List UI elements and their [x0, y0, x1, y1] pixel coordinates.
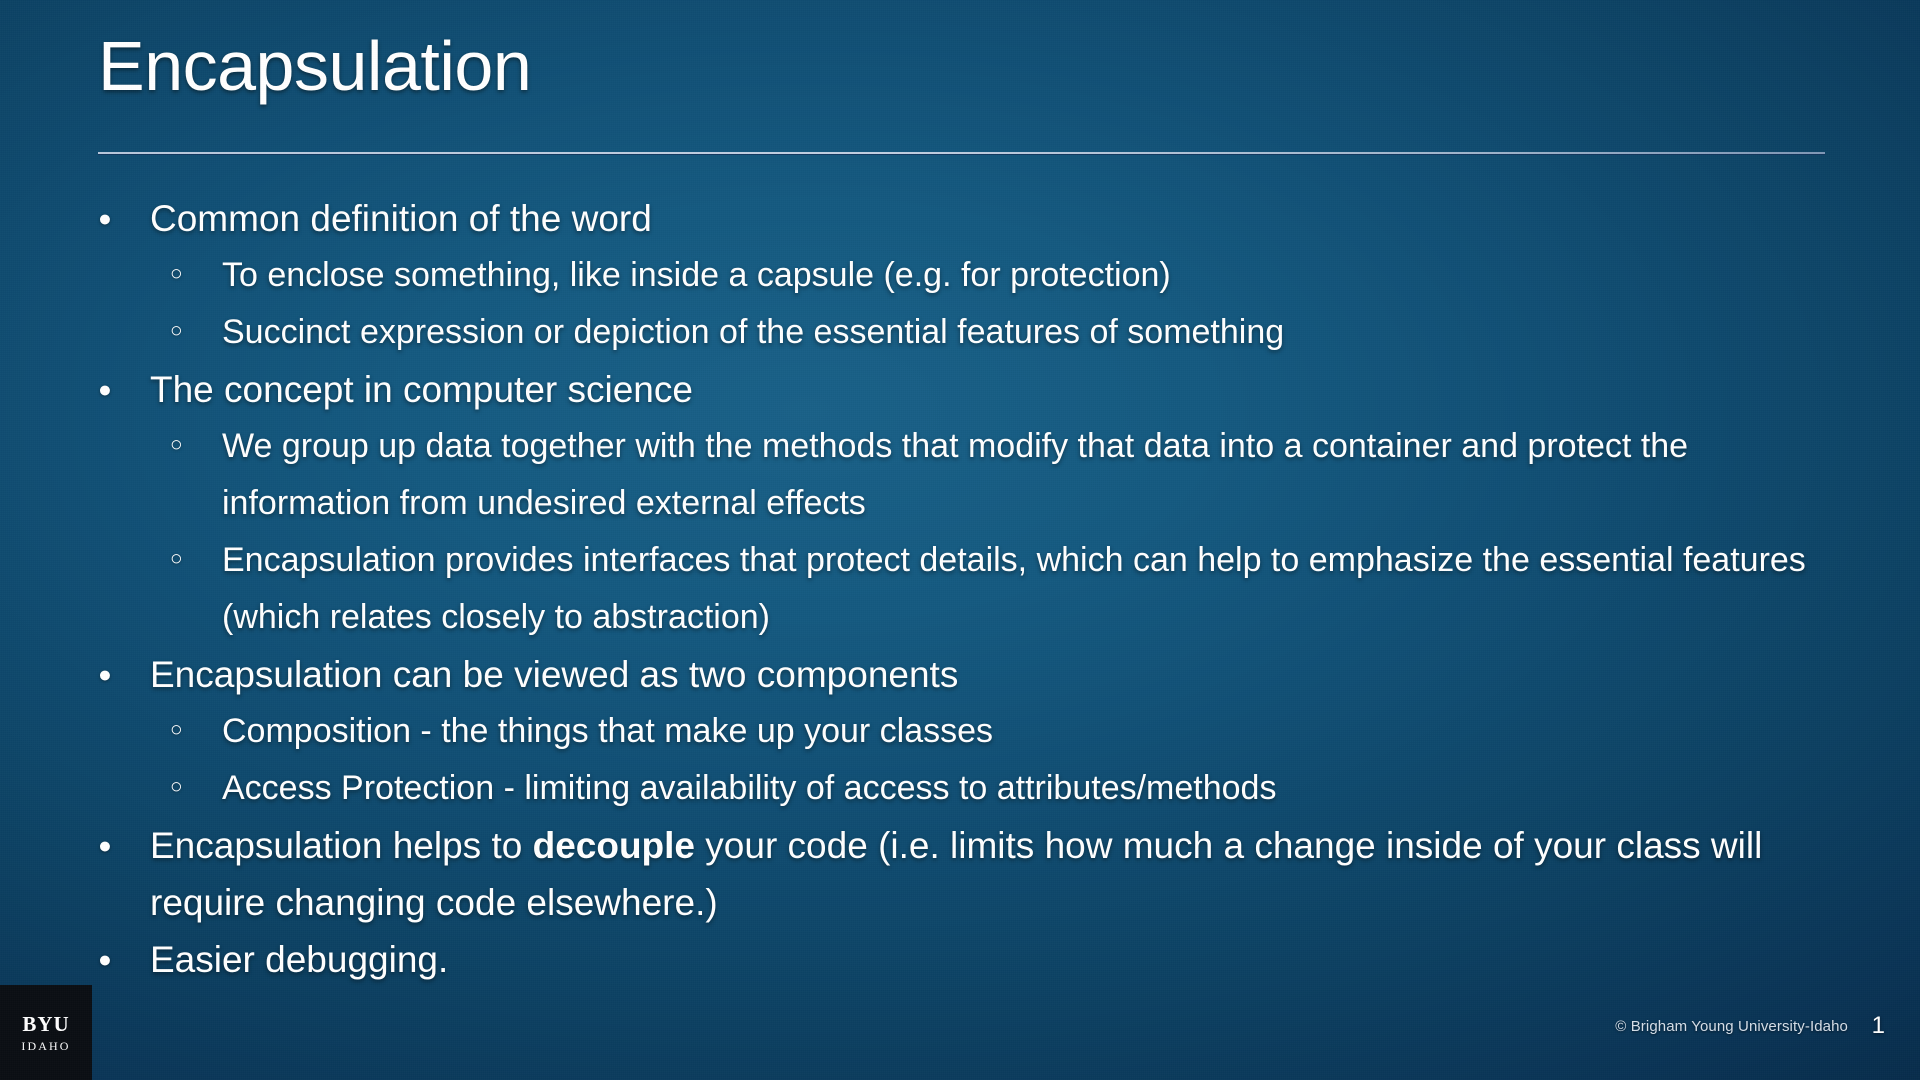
bullet-text-emphasis: decouple [533, 825, 695, 866]
logo-secondary-text: IDAHO [21, 1040, 70, 1052]
page-number: 1 [1872, 1012, 1885, 1040]
bullet-text: Encapsulation can be viewed as two compo… [150, 646, 1858, 703]
copyright-notice: © Brigham Young University-Idaho [1615, 1018, 1848, 1035]
bullet-item: ○Composition - the things that make up y… [170, 703, 1858, 760]
bullet-list: ●Common definition of the word○To enclos… [98, 190, 1858, 988]
bullet-item: ○We group up data together with the meth… [170, 418, 1858, 532]
bullet-text: We group up data together with the metho… [222, 418, 1858, 532]
bullet-text: Encapsulation provides interfaces that p… [222, 532, 1858, 646]
bullet-item: ○Succinct expression or depiction of the… [170, 304, 1858, 361]
bullet-item: ○To enclose something, like inside a cap… [170, 247, 1858, 304]
title-divider [98, 152, 1825, 154]
bullet-disc-icon: ● [98, 361, 150, 401]
byu-idaho-logo: BYU IDAHO [0, 985, 92, 1080]
bullet-circle-icon: ○ [170, 532, 222, 569]
bullet-item: ●Encapsulation can be viewed as two comp… [98, 646, 1858, 703]
bullet-text: Common definition of the word [150, 190, 1858, 247]
bullet-disc-icon: ● [98, 931, 150, 971]
bullet-disc-icon: ● [98, 190, 150, 230]
logo-primary-text: BYU [22, 1014, 69, 1035]
slide-canvas: Encapsulation ●Common definition of the … [0, 0, 1920, 1080]
bullet-item: ●Common definition of the word [98, 190, 1858, 247]
bullet-text: The concept in computer science [150, 361, 1858, 418]
bullet-circle-icon: ○ [170, 304, 222, 341]
bullet-text: Access Protection - limiting availabilit… [222, 760, 1858, 817]
bullet-item: ●Encapsulation helps to decouple your co… [98, 817, 1858, 931]
bullet-circle-icon: ○ [170, 418, 222, 455]
bullet-text: Easier debugging. [150, 931, 1858, 988]
bullet-disc-icon: ● [98, 817, 150, 857]
bullet-circle-icon: ○ [170, 703, 222, 740]
bullet-text: To enclose something, like inside a caps… [222, 247, 1858, 304]
bullet-item: ●Easier debugging. [98, 931, 1858, 988]
page-title: Encapsulation [98, 26, 531, 107]
bullet-text: Encapsulation helps to decouple your cod… [150, 817, 1858, 931]
bullet-item: ○Encapsulation provides interfaces that … [170, 532, 1858, 646]
bullet-item: ●The concept in computer science [98, 361, 1858, 418]
bullet-circle-icon: ○ [170, 760, 222, 797]
bullet-disc-icon: ● [98, 646, 150, 686]
bullet-text: Composition - the things that make up yo… [222, 703, 1858, 760]
bullet-item: ○Access Protection - limiting availabili… [170, 760, 1858, 817]
bullet-circle-icon: ○ [170, 247, 222, 284]
bullet-text: Succinct expression or depiction of the … [222, 304, 1858, 361]
